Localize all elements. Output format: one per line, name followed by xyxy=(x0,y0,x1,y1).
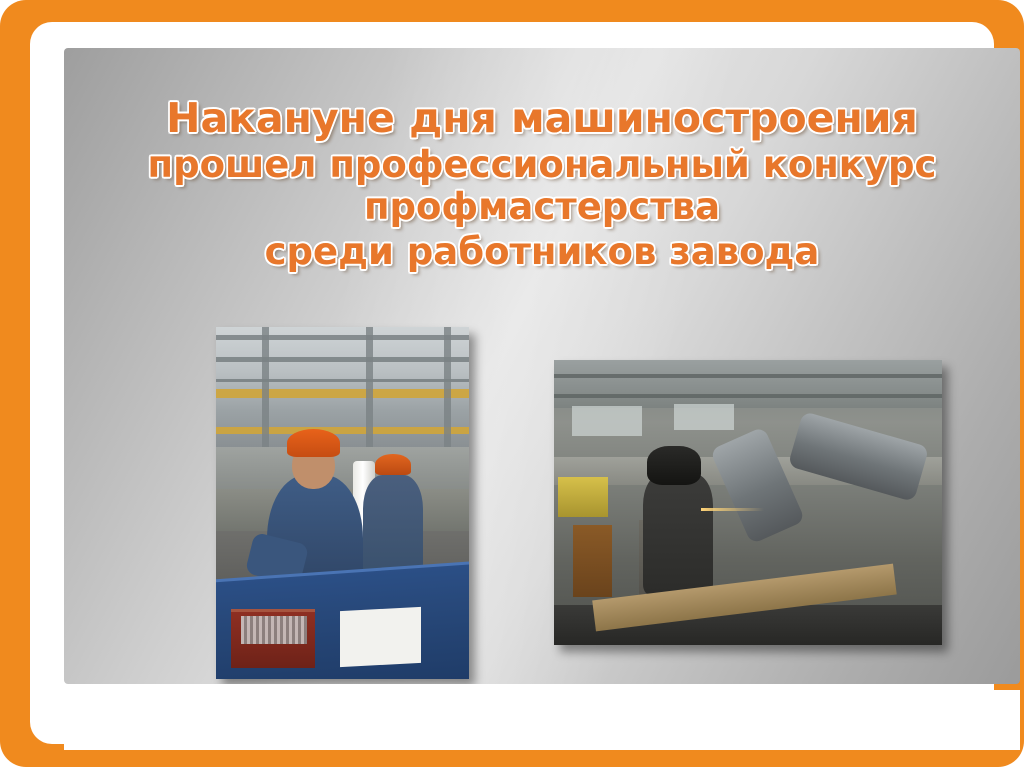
yellow-crane-beam xyxy=(216,389,469,398)
roof-truss xyxy=(216,335,469,340)
roof xyxy=(554,360,942,408)
orange-hardhat xyxy=(287,429,340,457)
presentation-slide: Накануне дня машиностроения прошел профе… xyxy=(0,0,1024,767)
white-sheet xyxy=(340,606,421,667)
slide-bottom-strip xyxy=(64,690,1020,750)
worker-with-toolbox-photo xyxy=(216,327,469,679)
second-worker-helmet xyxy=(375,454,410,475)
title-line-2: прошел профессиональный конкурс xyxy=(104,144,980,185)
roof-truss xyxy=(216,357,469,362)
welder-body xyxy=(643,474,713,594)
workpiece-left-arm xyxy=(710,427,805,545)
worker-with-toolbox-photo-scene xyxy=(216,327,469,679)
roof-beam xyxy=(554,394,942,398)
wooden-stand xyxy=(573,525,612,596)
support-column xyxy=(262,327,269,447)
tool-set xyxy=(241,616,307,644)
welder-photo-scene xyxy=(554,360,942,645)
yellow-crane-beam xyxy=(216,427,469,434)
yellow-equipment-box xyxy=(558,477,608,517)
roof-beam xyxy=(554,374,942,378)
slide-white-card: Накануне дня машиностроения прошел профе… xyxy=(30,22,994,744)
window xyxy=(572,406,642,436)
title-line-4: среди работников завода xyxy=(104,231,980,272)
window xyxy=(674,404,734,430)
slide-title: Накануне дня машиностроения прошел профе… xyxy=(104,96,980,272)
v-shaped-workpiece xyxy=(717,428,942,571)
support-column xyxy=(366,327,373,447)
weld-spark xyxy=(701,508,763,511)
title-line-3: профмастерства xyxy=(104,186,980,227)
title-line-1: Накануне дня машиностроения xyxy=(104,96,980,142)
welding-mask xyxy=(647,446,701,486)
slide-content-panel: Накануне дня машиностроения прошел профе… xyxy=(64,48,1020,684)
welder-photo xyxy=(554,360,942,645)
roof-truss xyxy=(216,379,469,382)
